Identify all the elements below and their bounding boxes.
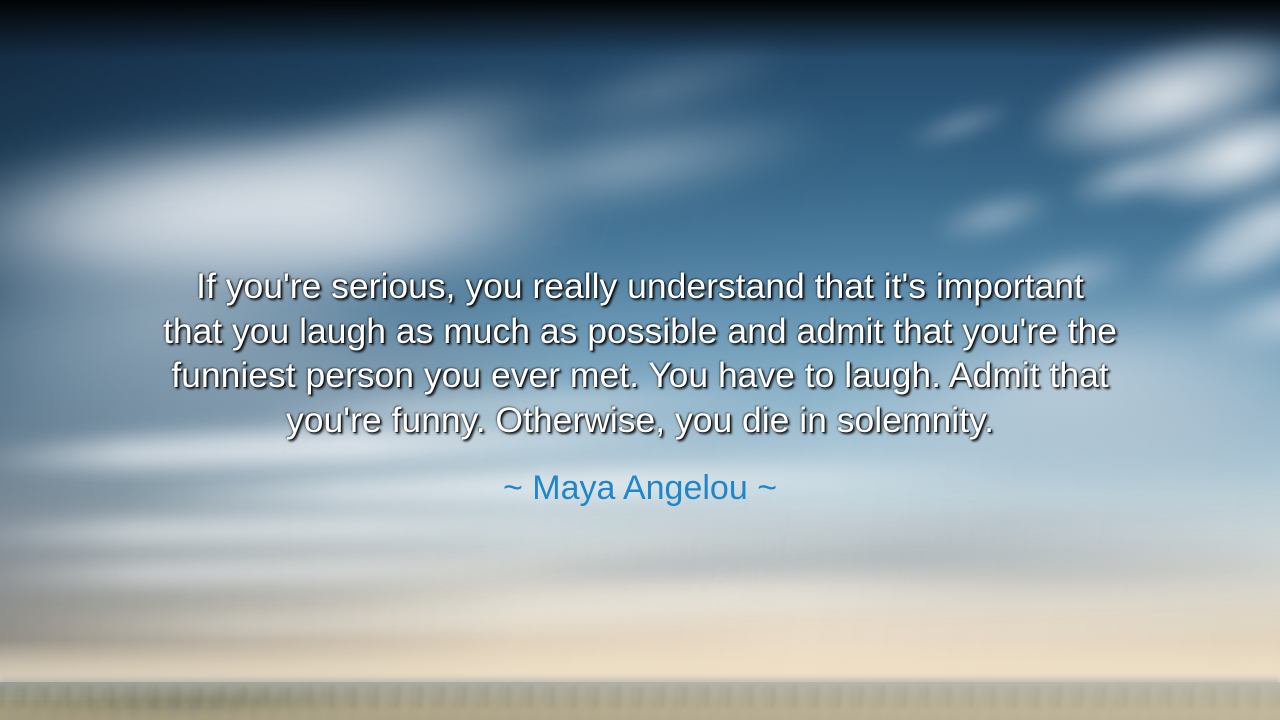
quote-line-1: If you're serious, you really understand… <box>0 264 1280 309</box>
quote-text-block: If you're serious, you really understand… <box>0 264 1280 442</box>
quote-line-4: you're funny. Otherwise, you die in sole… <box>0 398 1280 443</box>
quote-image-canvas: If you're serious, you really understand… <box>0 0 1280 720</box>
quote-attribution: ~ Maya Angelou ~ <box>0 468 1280 508</box>
land-haze-overlay <box>0 682 1280 720</box>
quote-line-2: that you laugh as much as possible and a… <box>0 309 1280 354</box>
quote-line-3: funniest person you ever met. You have t… <box>0 353 1280 398</box>
